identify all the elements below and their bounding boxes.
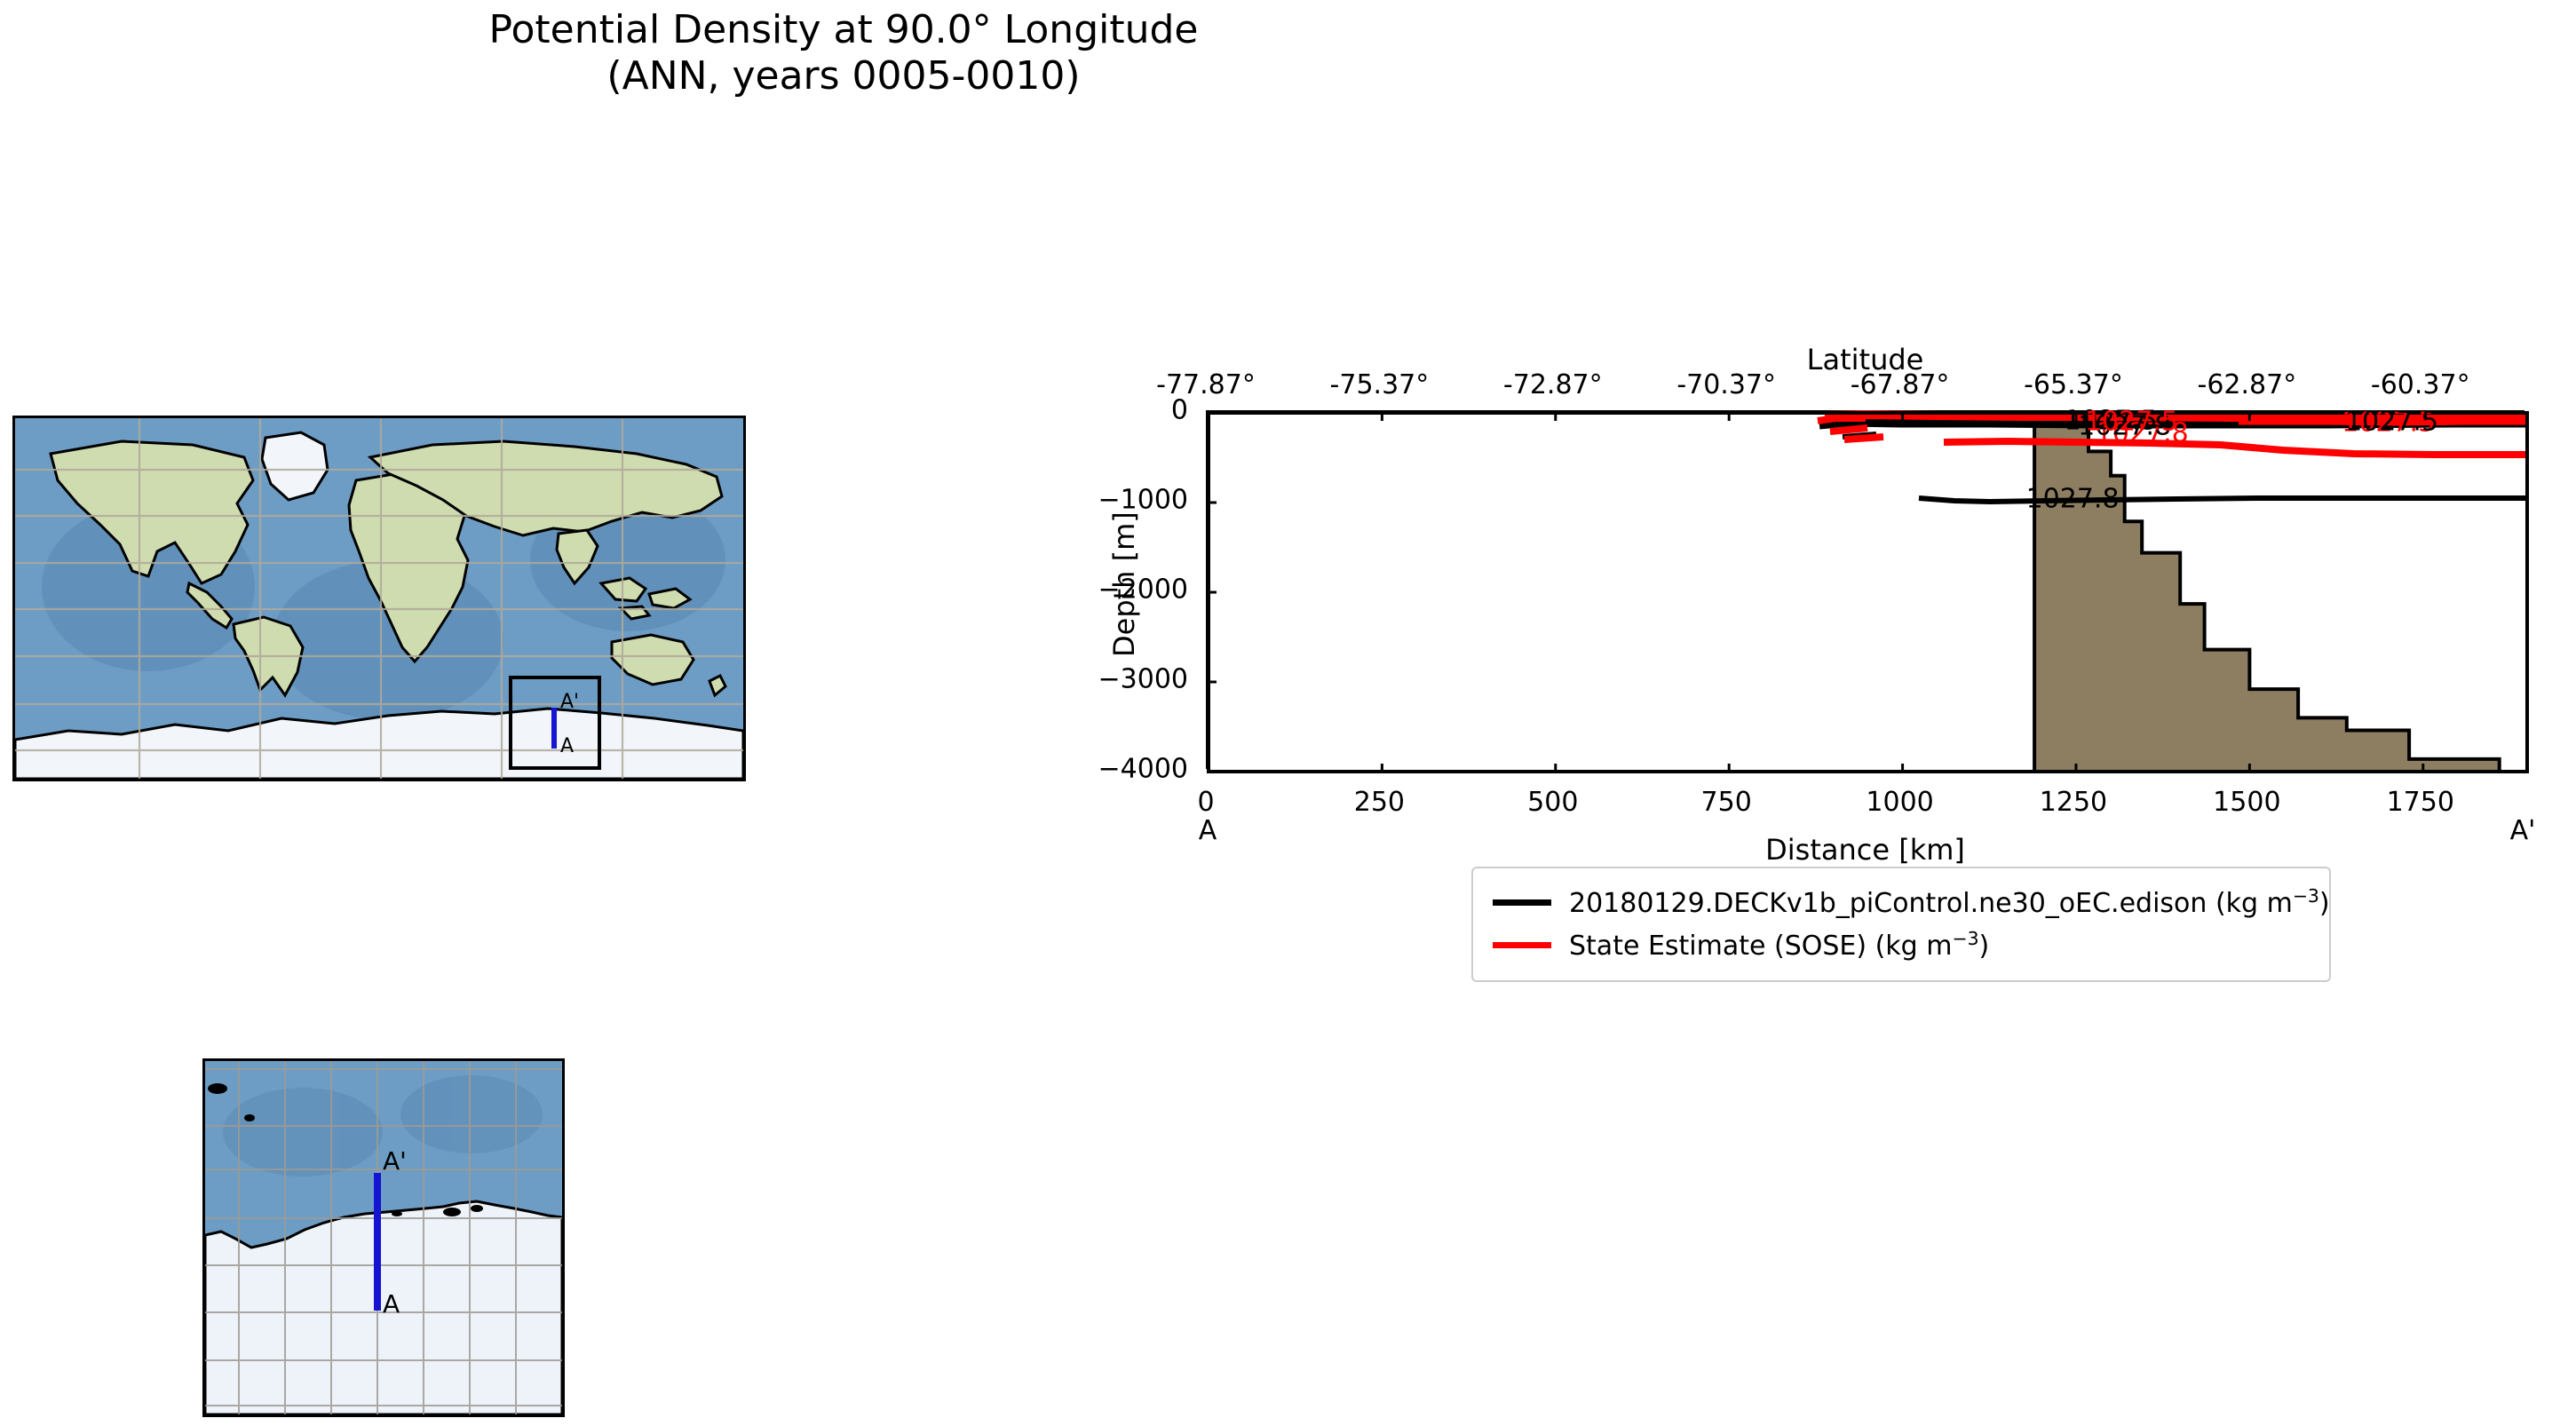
region-map-canvas: A' A bbox=[205, 1061, 562, 1414]
region-transect-end-label: A' bbox=[383, 1146, 407, 1176]
page-title: Potential Density at 90.0° Longitude (AN… bbox=[0, 7, 1687, 99]
distance-tick-label: 1000 bbox=[1866, 787, 1933, 818]
title-line-2: (ANN, years 0005-0010) bbox=[0, 53, 1687, 99]
transect-end-label: A' bbox=[560, 691, 579, 713]
latitude-tick-label: -67.87° bbox=[1851, 369, 1950, 400]
cross-section-canvas bbox=[1209, 413, 2527, 772]
cross-section-plot[interactable]: 1027.81027.81027.81027.51027.51027.51027… bbox=[1206, 410, 2524, 769]
latitude-tick-label: -62.87° bbox=[2198, 369, 2297, 400]
distance-tick-label: 250 bbox=[1354, 787, 1405, 818]
section-start-label: A bbox=[1199, 815, 1217, 846]
legend-label-model: 20180129.DECKv1b_piControl.ne30_oEC.edis… bbox=[1569, 885, 2330, 919]
distance-tick-label: 1250 bbox=[2040, 787, 2107, 818]
title-line-1: Potential Density at 90.0° Longitude bbox=[0, 7, 1687, 53]
legend-row[interactable]: 20180129.DECKv1b_piControl.ne30_oEC.edis… bbox=[1493, 881, 2310, 923]
world-overview-map[interactable]: A' A bbox=[12, 416, 746, 781]
distance-tick-label: 1750 bbox=[2387, 787, 2454, 818]
legend-row[interactable]: State Estimate (SOSE) (kg m−3) bbox=[1493, 923, 2310, 966]
latitude-tick-label: -75.37° bbox=[1330, 369, 1430, 400]
depth-tick-label: 0 bbox=[1171, 395, 1188, 426]
latitude-tick-label: -65.37° bbox=[2024, 369, 2123, 400]
section-end-label: A' bbox=[2510, 815, 2536, 846]
world-map-canvas: A' A bbox=[15, 418, 743, 779]
distance-tick-label: 500 bbox=[1527, 787, 1578, 818]
depth-tick-label: −2000 bbox=[1098, 574, 1188, 606]
latitude-tick-label: -72.87° bbox=[1503, 369, 1603, 400]
depth-tick-label: −3000 bbox=[1098, 664, 1188, 695]
distance-tick-label: 0 bbox=[1197, 787, 1214, 818]
legend-swatch-sose bbox=[1493, 942, 1551, 948]
latitude-tick-label: -60.37° bbox=[2371, 369, 2470, 400]
distance-tick-label: 750 bbox=[1701, 787, 1752, 818]
depth-tick-label: −1000 bbox=[1098, 485, 1188, 516]
latitude-tick-label: -70.37° bbox=[1676, 369, 1776, 400]
transect-start-label: A bbox=[560, 735, 574, 757]
depth-tick-label: −4000 bbox=[1098, 754, 1188, 785]
distance-axis-title: Distance [km] bbox=[1206, 833, 2524, 867]
legend-swatch-model bbox=[1493, 899, 1551, 906]
distance-tick-label: 1500 bbox=[2213, 787, 2280, 818]
legend-label-sose: State Estimate (SOSE) (kg m−3) bbox=[1569, 928, 1989, 962]
regional-detail-map[interactable]: A' A bbox=[202, 1058, 565, 1417]
plot-legend[interactable]: 20180129.DECKv1b_piControl.ne30_oEC.edis… bbox=[1471, 867, 2331, 982]
region-transect-start-label: A bbox=[383, 1289, 400, 1319]
